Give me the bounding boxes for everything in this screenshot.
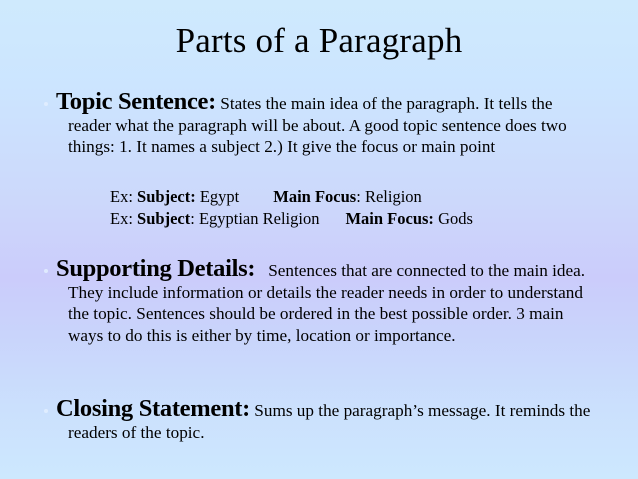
example-1-subject-value: Egypt [196, 187, 240, 206]
page-title: Parts of a Paragraph [0, 20, 638, 62]
bullet-icon [44, 269, 48, 273]
supporting-details-paragraph: Supporting Details:Sentences that are co… [56, 258, 596, 346]
example-1-focus-value: Religion [361, 187, 422, 206]
example-1-prefix: Ex: [110, 187, 137, 206]
example-2-subject-label: Subject [137, 209, 190, 228]
example-1-subject-label: Subject: [137, 187, 196, 206]
topic-sentence-paragraph: Topic Sentence: States the main idea of … [56, 91, 596, 158]
example-2-focus-label: Main Focus: [345, 209, 433, 228]
section-topic-sentence: Topic Sentence: States the main idea of … [56, 91, 596, 158]
supporting-details-heading: Supporting Details: [56, 255, 255, 282]
example-row: Ex: Subject: EgyptMain Focus: Religion [110, 186, 610, 208]
bullet-icon [44, 102, 48, 106]
section-supporting-details: Supporting Details:Sentences that are co… [56, 258, 596, 346]
bullet-icon [44, 409, 48, 413]
closing-statement-paragraph: Closing Statement: Sums up the paragraph… [56, 398, 596, 443]
examples-list: Ex: Subject: EgyptMain Focus: Religion E… [110, 186, 610, 230]
closing-statement-heading: Closing Statement: [56, 395, 250, 422]
example-row: Ex: Subject: Egyptian ReligionMain Focus… [110, 208, 610, 230]
example-1-focus-label: Main Focus [273, 187, 356, 206]
example-2-subject-value: Egyptian Religion [195, 209, 320, 228]
example-2-prefix: Ex: [110, 209, 137, 228]
section-closing-statement: Closing Statement: Sums up the paragraph… [56, 398, 596, 443]
example-2-focus-value: Gods [434, 209, 473, 228]
slide-canvas: Parts of a Paragraph Topic Sentence: Sta… [0, 0, 638, 479]
topic-sentence-heading: Topic Sentence: [56, 88, 216, 115]
